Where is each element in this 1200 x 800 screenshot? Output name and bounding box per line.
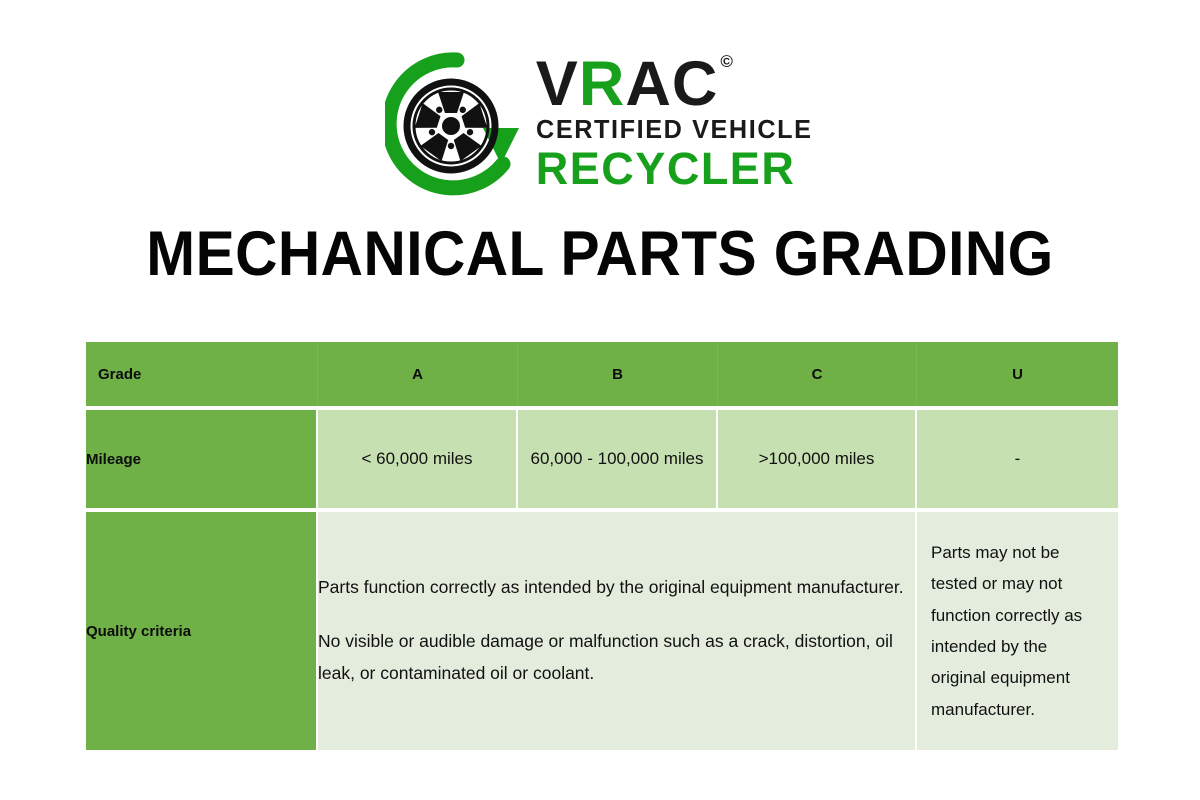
quality-cell-abc: Parts function correctly as intended by …	[318, 512, 917, 750]
mileage-cell-c: >100,000 miles	[718, 410, 917, 508]
row-label-mileage: Mileage	[86, 410, 318, 508]
brand-logo: VRAC© CERTIFIED VEHICLE RECYCLER	[0, 48, 1200, 200]
wordmark-vrac: VRAC©	[536, 56, 815, 114]
quality-cell-u: Parts may not be tested or may not funct…	[917, 512, 1118, 750]
page-title: MECHANICAL PARTS GRADING	[42, 218, 1158, 290]
quality-paragraph-1: Parts function correctly as intended by …	[318, 572, 915, 604]
mileage-cell-a: < 60,000 miles	[318, 410, 518, 508]
header-cell-grade-a: A	[318, 342, 518, 406]
vrac-recycling-wheel-logo	[385, 52, 530, 197]
wordmark-v: V	[536, 49, 579, 119]
header-cell-grade-u: U	[917, 342, 1118, 406]
logo-wordmark: VRAC© CERTIFIED VEHICLE RECYCLER	[536, 54, 815, 194]
mechanical-parts-grading-table: Grade A B C U Mileage < 60,000 miles 60,…	[86, 342, 1118, 750]
copyright-icon: ©	[720, 52, 733, 71]
table-row-mileage: Mileage < 60,000 miles 60,000 - 100,000 …	[86, 410, 1118, 508]
wordmark-ac: AC	[625, 49, 718, 119]
table-row-quality-criteria: Quality criteria Parts function correctl…	[86, 512, 1118, 750]
header-cell-grade-c: C	[718, 342, 917, 406]
logo-inner: VRAC© CERTIFIED VEHICLE RECYCLER	[385, 49, 815, 199]
logo-recycler-word: RECYCLER	[536, 146, 815, 192]
table-header-row: Grade A B C U	[86, 342, 1118, 406]
header-cell-grade: Grade	[86, 342, 318, 406]
header-cell-grade-b: B	[518, 342, 718, 406]
row-label-quality-criteria: Quality criteria	[86, 512, 318, 750]
logo-tagline: CERTIFIED VEHICLE	[536, 116, 813, 145]
quality-paragraph-2: No visible or audible damage or malfunct…	[318, 626, 915, 690]
wordmark-r: R	[579, 49, 626, 119]
mileage-cell-b: 60,000 - 100,000 miles	[518, 410, 718, 508]
mileage-cell-u: -	[917, 410, 1118, 508]
